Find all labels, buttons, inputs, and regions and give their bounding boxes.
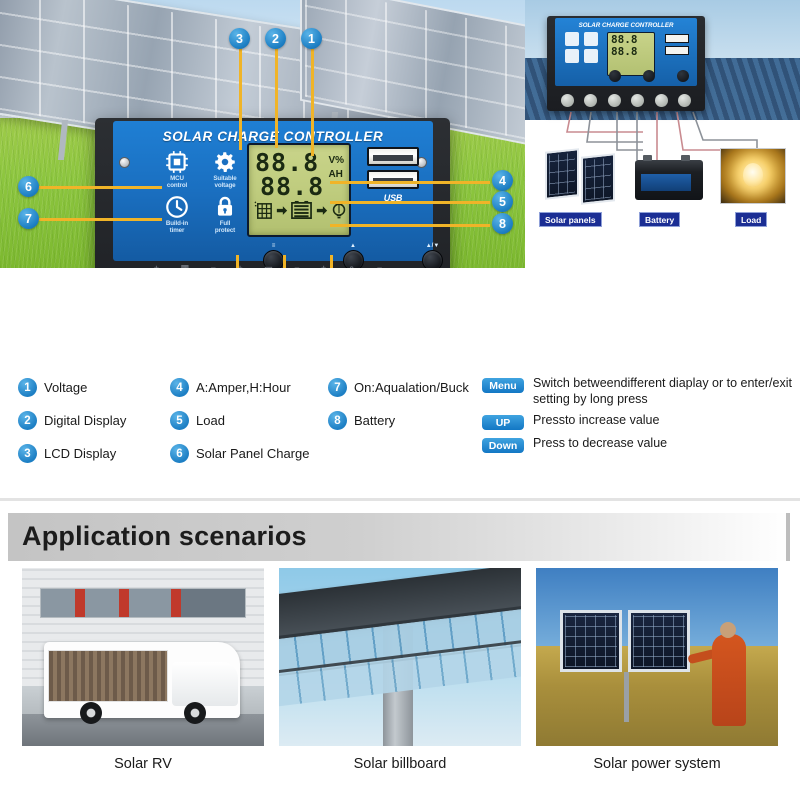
mini-terminal-screw[interactable] xyxy=(655,94,668,107)
help-text-menu: Switch betweendifferent diaplay or to en… xyxy=(533,376,792,407)
mini-usb-port xyxy=(665,46,689,55)
rv-vehicle xyxy=(44,642,240,718)
up-button-cap: ▲ xyxy=(343,243,364,249)
legend-list: 1 Voltage 4 A:Amper,H:Hour 7 On:Aqualati… xyxy=(18,378,488,463)
mini-button-row[interactable] xyxy=(609,70,689,82)
legend-label: LCD Display xyxy=(44,446,116,461)
help-row-up: UP Pressto increase value xyxy=(482,413,792,430)
terminal-mark: − xyxy=(211,263,216,268)
mini-terminal-screw[interactable] xyxy=(631,94,644,107)
mini-faceplate: SOLAR CHARGE CONTROLLER 88.8 88.8 xyxy=(555,18,697,86)
legend-item-5: 5 Load xyxy=(170,411,328,430)
help-row-menu: Menu Switch betweendifferent diaplay or … xyxy=(482,376,792,407)
field-solar-panel xyxy=(560,610,622,672)
feature-icon-grid: MCUcontrol Suitablevoltage Build-intimer xyxy=(157,149,245,235)
scene-caption-rv: Solar RV xyxy=(22,756,264,772)
help-chip-menu[interactable]: Menu xyxy=(482,378,524,393)
device-faceplate: SOLAR CHARGE CONTROLLER MCUcontrol Suita… xyxy=(113,121,433,261)
mini-lcd-digits-bottom: 88.8 xyxy=(611,47,654,57)
scene-solar-power-system-image xyxy=(536,568,778,746)
terminal-mark: − xyxy=(294,263,299,268)
down-button-cap: ▲/▼ xyxy=(422,243,443,249)
legend-number: 4 xyxy=(170,378,189,397)
legend-label: A:Amper,H:Hour xyxy=(196,380,291,395)
feature-buildin-timer: Build-intimer xyxy=(157,194,197,235)
callout-badge-4: 4 xyxy=(492,170,513,191)
field-solar-panel xyxy=(628,610,690,672)
usb-port-bottom xyxy=(367,170,419,189)
mini-chip-icon xyxy=(565,32,579,46)
legend-label: Voltage xyxy=(44,380,87,395)
callout-badge-6: 6 xyxy=(18,176,39,197)
legend-label: Load xyxy=(196,413,225,428)
rv-cab xyxy=(172,662,238,706)
mini-terminal-screw[interactable] xyxy=(608,94,621,107)
leader-line-1 xyxy=(311,48,314,156)
usb-port-top xyxy=(367,147,419,166)
mini-feature-icons xyxy=(565,32,599,63)
arrow-right-icon xyxy=(316,204,328,222)
scene-solar-billboard: Solar billboard xyxy=(279,568,521,772)
legend-number: 3 xyxy=(18,444,37,463)
callout-badge-7: 7 xyxy=(18,208,39,229)
solar-panel-icon xyxy=(253,200,274,226)
scenario-gallery: Solar RV Solar billboard Solar power sys… xyxy=(22,568,778,772)
mini-usb-port xyxy=(665,34,689,43)
section-divider xyxy=(0,498,800,501)
terminal-marks: + ▦ − + ▭ − + ⚬ − xyxy=(143,263,393,268)
button-help-list: Menu Switch betweendifferent diaplay or … xyxy=(482,376,792,459)
solar-charge-controller-device: SOLAR CHARGE CONTROLLER MCUcontrol Suita… xyxy=(95,118,450,268)
callout-badge-8: 8 xyxy=(492,213,513,234)
rv-wheel xyxy=(80,702,102,724)
legend-number: 6 xyxy=(170,444,189,463)
clock-icon xyxy=(164,194,190,220)
feature-full-protect: Fullprotect xyxy=(205,194,245,235)
terminal-mark: ▦ xyxy=(181,263,190,268)
battery-label: Battery xyxy=(639,212,680,227)
help-text-up: Pressto increase value xyxy=(533,413,659,429)
mounting-screw xyxy=(119,157,130,168)
scene-solar-rv-image xyxy=(22,568,264,746)
terminal-mark: − xyxy=(377,263,382,268)
lcd-unit-amphour: AH xyxy=(328,168,344,182)
lcd-digits-bottom: 88.8 xyxy=(260,175,324,199)
leader-line-menu xyxy=(236,255,239,268)
wiring-diagram-panel: SOLAR CHARGE CONTROLLER 88.8 88.8 xyxy=(525,0,800,268)
mini-up-button[interactable] xyxy=(643,70,655,82)
battery-icon xyxy=(289,200,314,226)
mini-lcd-digits-top: 88.8 xyxy=(611,35,654,45)
rv-wheel xyxy=(184,702,206,724)
leader-line-down xyxy=(330,255,333,268)
feature-label: Build-in xyxy=(166,220,188,227)
scene-solar-rv: Solar RV xyxy=(22,568,264,772)
hero-section: SOLAR CHARGE CONTROLLER MCUcontrol Suita… xyxy=(0,0,800,268)
feature-label: protect xyxy=(215,227,235,234)
mini-gear-icon xyxy=(584,32,598,46)
leader-line-7 xyxy=(32,218,162,221)
scene-caption-billboard: Solar billboard xyxy=(279,756,521,772)
legend-label: On:Aqualation/Buck xyxy=(354,380,469,395)
battery-illustration xyxy=(635,160,703,200)
bulb-icon xyxy=(329,201,349,226)
arrow-right-icon xyxy=(276,204,288,222)
legend-item-3: 3 LCD Display xyxy=(18,444,170,463)
help-chip-down[interactable]: Down xyxy=(482,438,524,453)
legend-item-2: 2 Digital Display xyxy=(18,411,170,430)
lcd-digits-top: 88.8 xyxy=(255,151,324,175)
rv-building-windows xyxy=(40,588,246,618)
legend-label: Battery xyxy=(354,413,395,428)
feature-label: Suitable xyxy=(213,175,236,182)
legend-number: 8 xyxy=(328,411,347,430)
terminal-mark: + xyxy=(154,263,159,268)
legend-item-8: 8 Battery xyxy=(328,411,488,430)
callout-badge-3: 3 xyxy=(229,28,250,49)
legend-number: 2 xyxy=(18,411,37,430)
help-row-down: Down Press to decrease value xyxy=(482,436,792,453)
legend-item-4: 4 A:Amper,H:Hour xyxy=(170,378,328,397)
lcd-display: 88.8 88.8 V% AH xyxy=(247,143,351,237)
legend-number: 7 xyxy=(328,378,347,397)
solar-panel-unit xyxy=(581,153,615,205)
mini-down-button[interactable] xyxy=(677,70,689,82)
feature-mcu-control: MCUcontrol xyxy=(157,149,197,190)
terminal-mark: + xyxy=(321,263,326,268)
person-figure xyxy=(712,634,746,726)
lightbulb-icon xyxy=(743,163,763,187)
mini-menu-button[interactable] xyxy=(609,70,621,82)
callout-badge-5: 5 xyxy=(492,191,513,212)
mini-usb-group xyxy=(665,34,689,58)
leader-line-5 xyxy=(330,201,490,204)
mini-terminal-screw[interactable] xyxy=(584,94,597,107)
mini-clock-icon xyxy=(565,49,579,63)
mini-terminal-row xyxy=(561,94,691,107)
callout-badge-2: 2 xyxy=(265,28,286,49)
legend-item-6: 6 Solar Panel Charge xyxy=(170,444,328,463)
menu-button-cap: ≡ xyxy=(263,243,284,249)
feature-label: control xyxy=(167,182,187,189)
legend-spacer xyxy=(328,444,488,463)
solar-panels-label: Solar panels xyxy=(539,212,602,227)
leader-line-up xyxy=(283,255,286,268)
terminal-block: + ▦ − + ▭ − + ⚬ − xyxy=(113,261,433,268)
terminal-mark: ⚬ xyxy=(348,263,356,268)
solar-panels-illustration xyxy=(545,150,619,202)
application-heading: Application scenarios xyxy=(22,521,307,552)
lcd-unit-voltage: V% xyxy=(328,154,344,168)
feature-suitable-voltage: Suitablevoltage xyxy=(205,149,245,190)
field-panel-pole xyxy=(624,672,629,722)
help-text-down: Press to decrease value xyxy=(533,436,667,452)
scene-solar-power-system: Solar power system xyxy=(536,568,778,772)
load-lightbulb-illustration xyxy=(720,148,786,204)
load-label: Load xyxy=(735,212,767,227)
rv-ground xyxy=(22,714,264,746)
feature-label: voltage xyxy=(215,182,236,189)
scene-solar-billboard-image xyxy=(279,568,521,746)
legend-label: Solar Panel Charge xyxy=(196,446,309,461)
legend-number: 1 xyxy=(18,378,37,397)
leader-line-2 xyxy=(275,48,278,148)
chip-icon xyxy=(164,149,190,175)
leader-line-6 xyxy=(32,186,162,189)
leader-line-3 xyxy=(239,48,242,150)
callout-badge-1: 1 xyxy=(301,28,322,49)
scene-caption-power-system: Solar power system xyxy=(536,756,778,772)
usb-port-group: USB xyxy=(367,147,419,203)
mini-controller-device: SOLAR CHARGE CONTROLLER 88.8 88.8 xyxy=(547,16,705,111)
legend-item-7: 7 On:Aqualation/Buck xyxy=(328,378,488,397)
help-chip-up[interactable]: UP xyxy=(482,415,524,430)
person-head xyxy=(720,622,736,638)
mini-device-title: SOLAR CHARGE CONTROLLER xyxy=(555,22,697,29)
legend-number: 5 xyxy=(170,411,189,430)
leader-line-4 xyxy=(330,181,490,184)
lock-icon xyxy=(212,194,238,220)
gear-icon xyxy=(212,149,238,175)
device-title: SOLAR CHARGE CONTROLLER xyxy=(113,129,433,144)
feature-label: timer xyxy=(170,227,185,234)
terminal-mark: ▭ xyxy=(264,263,273,268)
feature-label: Full xyxy=(220,220,231,227)
lcd-units: V% AH xyxy=(328,154,344,181)
mini-lock-icon xyxy=(584,49,598,63)
lcd-digit-group: 88.8 88.8 xyxy=(255,151,324,198)
feature-label: MCU xyxy=(170,175,184,182)
solar-panel-unit xyxy=(545,148,579,200)
banner-accent-bar xyxy=(786,513,790,561)
legend-item-1: 1 Voltage xyxy=(18,378,170,397)
rv-body xyxy=(48,650,168,702)
mini-terminal-screw[interactable] xyxy=(561,94,574,107)
leader-line-8 xyxy=(330,224,490,227)
legend-label: Digital Display xyxy=(44,413,126,428)
mini-terminal-screw[interactable] xyxy=(678,94,691,107)
